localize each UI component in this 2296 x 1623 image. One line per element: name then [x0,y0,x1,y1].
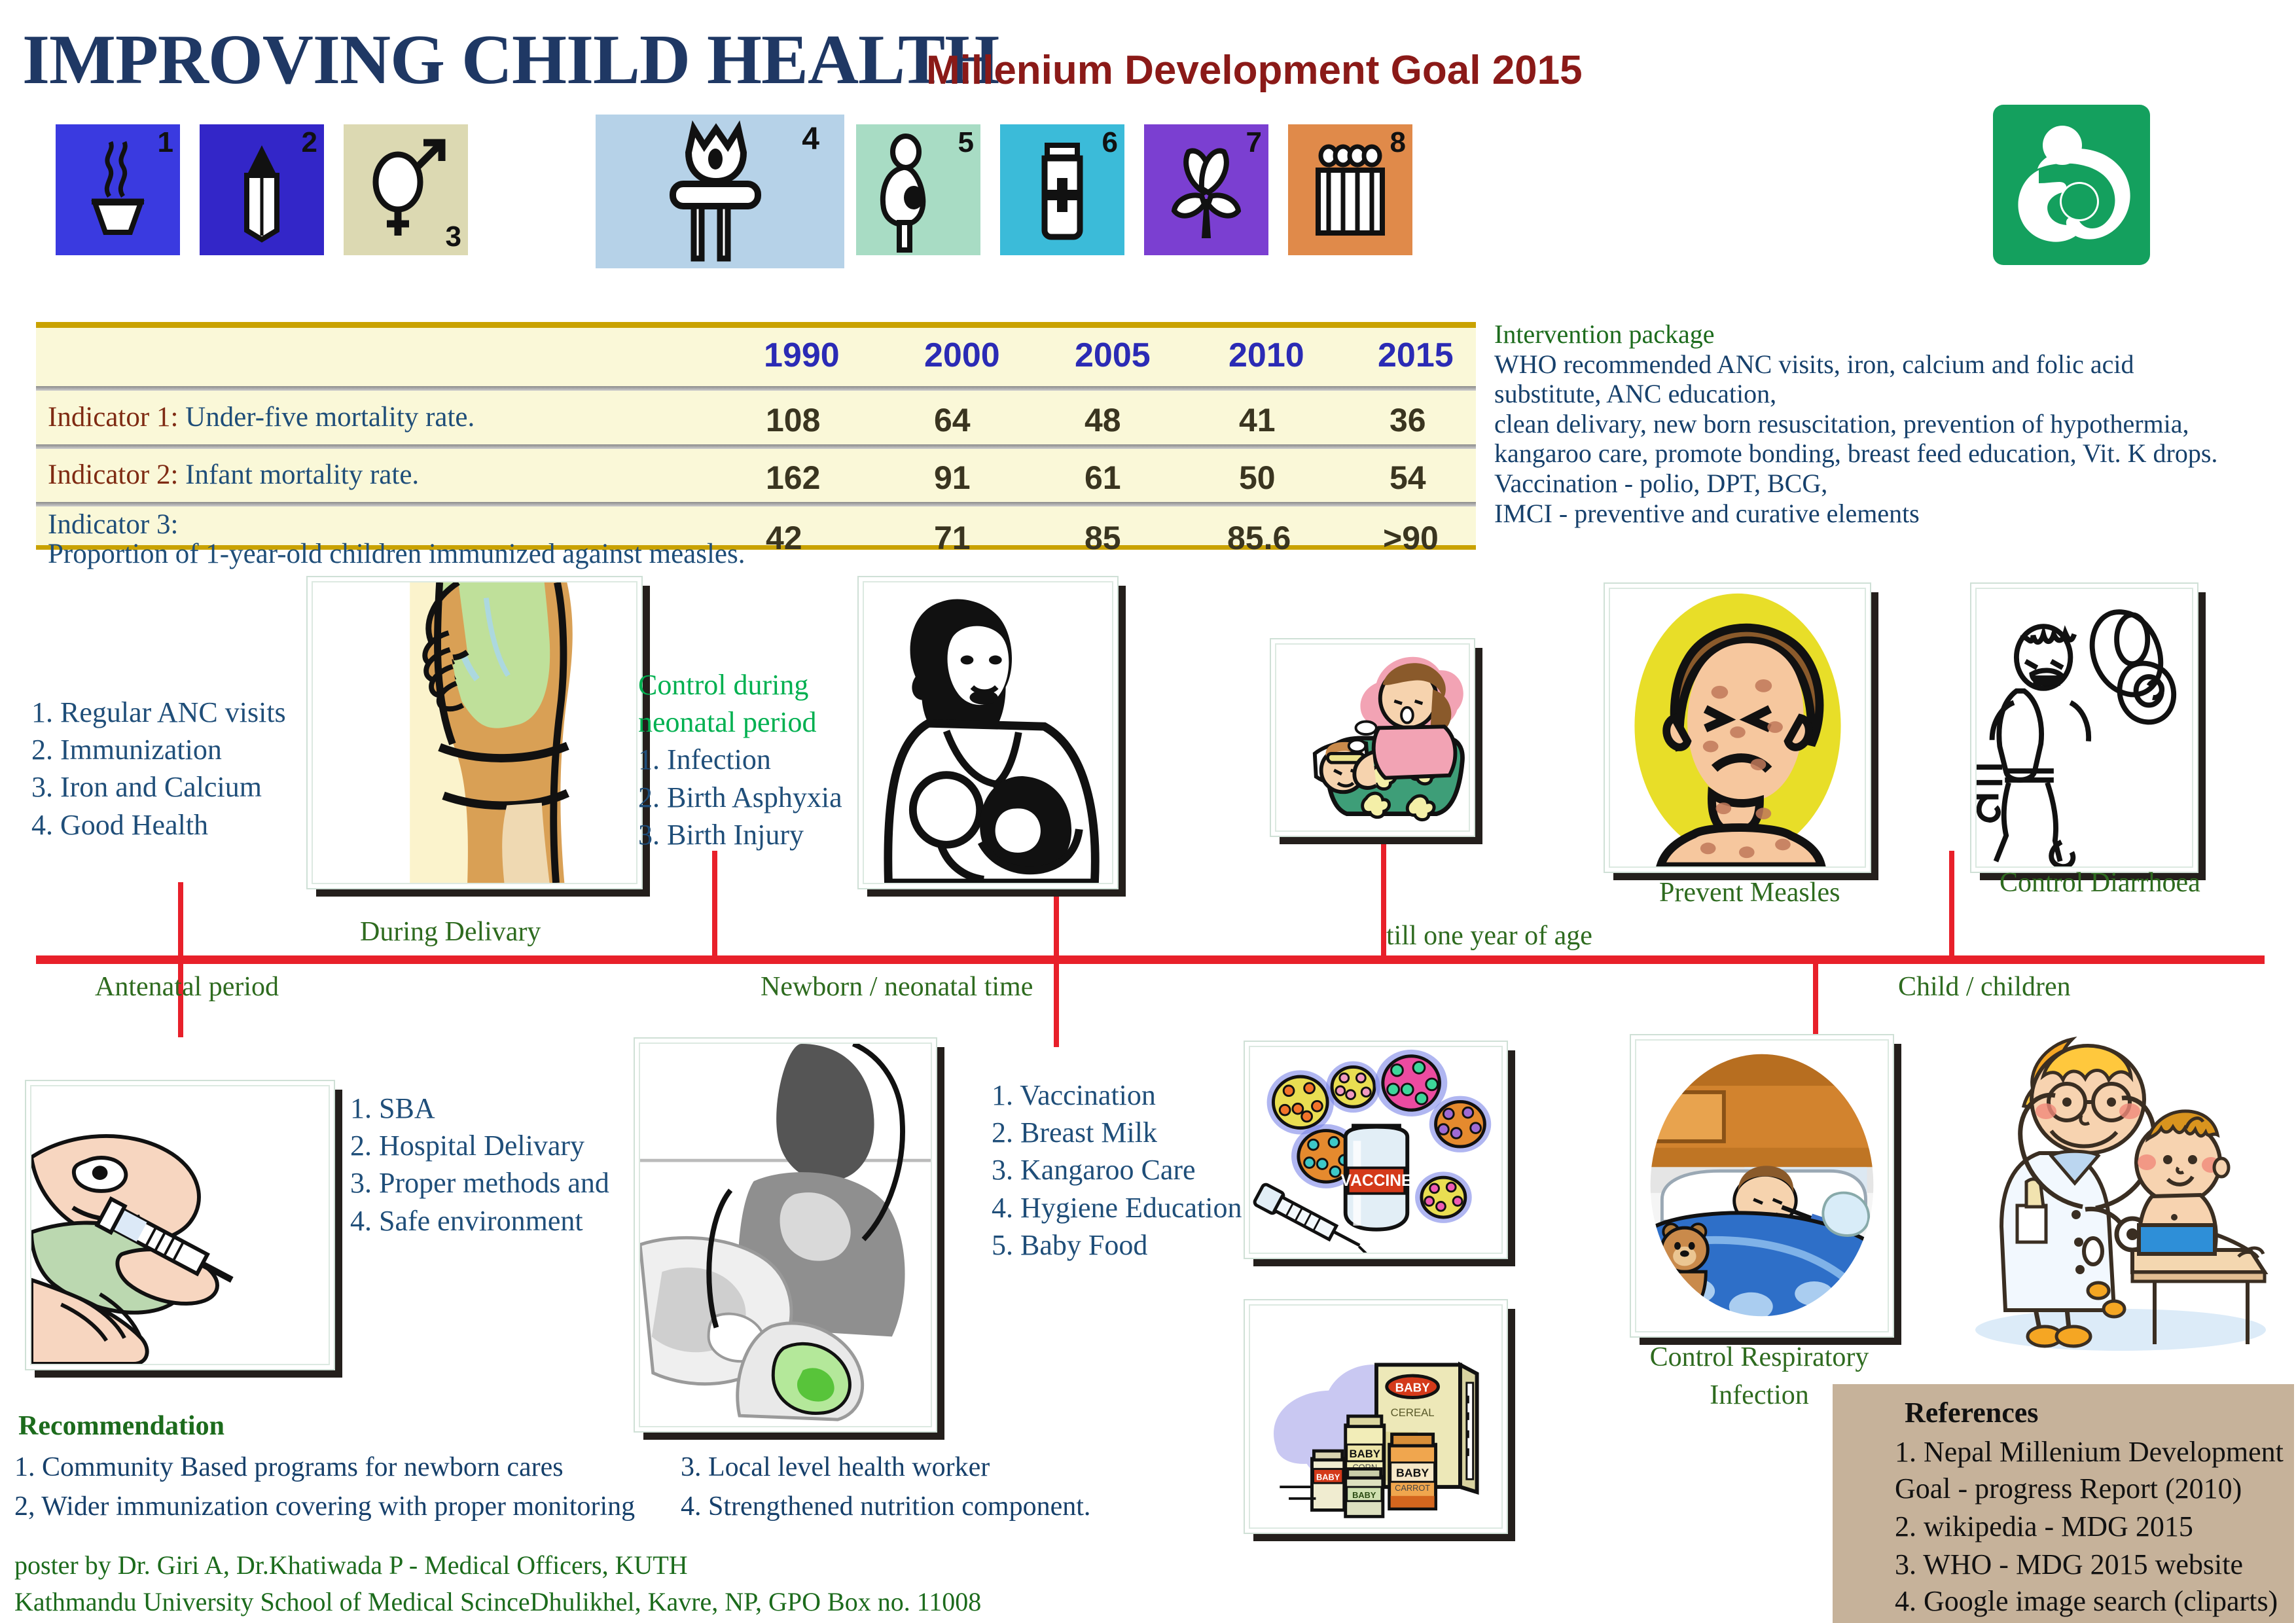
page-title: IMPROVING CHILD HEALTH [22,25,999,96]
table-cell: 108 [766,401,820,439]
credit-line-2: Kathmandu University School of Medical S… [14,1586,981,1617]
timeline-tick [712,851,717,959]
table-cell: 48 [1085,401,1121,439]
indicators-table: 1990 2000 2005 2010 2015 Indicator 1: Un… [36,322,1476,550]
table-col-header: 2015 [1378,336,1454,375]
svg-text:CARROT: CARROT [1395,1483,1430,1493]
mdg-icon-7: 7 [1144,124,1268,255]
table-divider [36,502,1476,507]
mdg-icon-8: 8 [1288,124,1412,255]
intervention-line: kangaroo care, promote bonding, breast f… [1494,438,2293,469]
photo-vaccine: VACCINE [1244,1041,1508,1259]
table-cell: 50 [1239,459,1276,497]
intervention-heading: Intervention package [1494,319,2293,349]
intervention-package-block: Intervention package WHO recommended ANC… [1494,319,2293,528]
photo-measles-child [1604,582,1871,873]
list-item: 3. Proper methods and [350,1164,609,1202]
table-col-header: 1990 [764,336,840,375]
mdg-number-label: 4 [802,121,819,157]
table-cell: >90 [1383,519,1439,557]
reference-item: 3. WHO - MDG 2015 website [1895,1548,2243,1581]
list-item: 3. Kangaroo Care [992,1151,1242,1188]
table-cell: 61 [1085,459,1121,497]
photo-delivery-procedure [634,1037,937,1433]
antenatal-list: 1. Regular ANC visits 2. Immunization 3.… [31,694,286,844]
reference-item: Goal - progress Report (2010) [1895,1472,2242,1505]
mdg-icon-2: 2 [200,124,324,255]
indicator-prefix: Indicator 3: [48,508,178,541]
reference-item: 1. Nepal Millenium Development [1895,1435,2284,1469]
timeline-label-child: Child / children [1898,971,2071,1003]
timeline-bar [36,955,2265,964]
label-control-respiratory-line1: Control Respiratory [1635,1342,1884,1373]
intervention-line: clean delivary, new born resuscitation, … [1494,409,2293,439]
list-item: 2. Birth Asphyxia [638,779,842,816]
timeline-tick [1381,844,1386,959]
neonatal-heading-line2: neonatal period [638,704,842,741]
svg-text:BABY: BABY [1316,1472,1340,1482]
timeline-tick [1054,962,1059,1047]
label-control-diarrhoea: Control Diarrhoea [2000,867,2200,899]
mdg-icon-6: 6 [1000,124,1124,255]
photo-diarrhoea [1970,582,2198,873]
mdg-icon-4-highlight: 4 [596,115,844,268]
table-cell: 85 [1085,519,1121,557]
mdg-icon-3: 3 [344,124,468,255]
photo-breastfeeding [857,576,1119,889]
timeline-label-till-one-year: till one year of age [1386,920,1592,952]
recommendation-heading: Recommendation [18,1410,224,1442]
table-cell: 85.6 [1227,519,1291,557]
list-item: 5. Baby Food [992,1226,1242,1264]
list-item: 3. Birth Injury [638,816,842,853]
indicator-prefix: Indicator 2: [48,459,178,490]
table-row: Indicator 1: Under-five mortality rate. [48,401,475,433]
photo-child-in-bed [1630,1034,1894,1338]
credit-line-1: poster by Dr. Giri A, Dr.Khatiwada P - M… [14,1550,688,1580]
table-divider [36,386,1476,391]
vaccine-bottle-label: VACCINE [1341,1172,1412,1190]
svg-text:BABY: BABY [1350,1448,1380,1460]
photo-baby-food: BABY CEREAL BABY CORN BABY CARROT [1244,1299,1508,1534]
svg-text:BABY: BABY [1395,1381,1431,1395]
intervention-line: Vaccination - polio, DPT, BCG, [1494,469,2293,499]
mdg-number-label: 7 [1246,128,1262,157]
list-item: 2. Immunization [31,731,286,768]
clipart-doctor-examining-child [1957,1034,2287,1355]
neonatal-heading-line1: Control during [638,666,842,704]
photo-sick-baby-care [1270,638,1475,837]
breastfeeding-logo [1993,105,2150,265]
table-cell: 91 [934,459,971,497]
indicator-label: Proportion of 1-year-old children immuni… [48,538,745,570]
delivery-list: 1. SBA 2. Hospital Delivary 3. Proper me… [350,1090,609,1240]
mdg-icon-1: 1 [56,124,180,255]
timeline-label-during-delivery: During Delivary [360,916,541,948]
photo-pregnant-belly [306,576,643,889]
label-prevent-measles: Prevent Measles [1659,877,1840,908]
svg-text:BABY: BABY [1396,1466,1429,1479]
list-item: 4. Safe environment [350,1202,609,1240]
list-item: 4. Hygiene Education [992,1189,1242,1226]
mdg-number-label: 1 [158,128,173,157]
table-cell: 71 [934,519,971,557]
mdg-number-label: 5 [958,128,974,157]
recommendation-item: 4. Strengthened nutrition component. [681,1491,1090,1522]
list-item: 1. Regular ANC visits [31,694,286,731]
list-item: 1. Vaccination [992,1077,1242,1114]
mdg-number-label: 3 [446,223,461,251]
photo-newborn-injection [25,1080,335,1370]
mdg-number-label: 6 [1102,128,1118,157]
timeline-tick [178,882,183,957]
table-divider [36,444,1476,449]
table-cell: 36 [1390,401,1426,439]
references-box: References 1. Nepal Millenium Developmen… [1833,1384,2294,1623]
table-cell: 41 [1239,401,1276,439]
timeline-tick [1054,897,1059,959]
svg-text:CEREAL: CEREAL [1391,1406,1435,1419]
recommendation-item: 3. Local level health worker [681,1452,990,1483]
neonatal-list: Control during neonatal period 1. Infect… [638,666,842,853]
list-item: 1. Infection [638,741,842,778]
mdg-icon-5: 5 [856,124,980,255]
reference-item: 4. Google image search (cliparts) [1895,1584,2278,1618]
timeline-tick [1949,851,1954,959]
indicator-prefix: Indicator 1: [48,402,178,433]
list-item: 4. Good Health [31,806,286,844]
svg-text:BABY: BABY [1352,1490,1376,1500]
list-item: 1. SBA [350,1090,609,1127]
list-item: 2. Breast Milk [992,1114,1242,1151]
intervention-line: IMCI - preventive and curative elements [1494,499,2293,529]
table-cell: 162 [766,459,820,497]
recommendation-item: 2, Wider immunization covering with prop… [14,1491,635,1522]
mdg-number-label: 2 [302,128,317,157]
page-subtitle: Millenium Development Goal 2015 [926,47,1583,94]
table-cell: 42 [766,519,802,557]
table-col-header: 2005 [1075,336,1151,375]
infant-care-list: 1. Vaccination 2. Breast Milk 3. Kangaro… [992,1077,1242,1264]
recommendation-item: 1. Community Based programs for newborn … [14,1452,564,1483]
table-col-header: 2000 [924,336,1000,375]
indicator-label: Infant mortality rate. [178,459,419,490]
table-col-header: 2010 [1229,336,1304,375]
list-item: 2. Hospital Delivary [350,1127,609,1164]
intervention-line: substitute, ANC education, [1494,379,2293,409]
indicator-label: Under-five mortality rate. [178,402,475,433]
mdg-number-label: 8 [1390,128,1406,157]
references-heading: References [1905,1396,2038,1429]
table-cell: 64 [934,401,971,439]
intervention-line: WHO recommended ANC visits, iron, calciu… [1494,349,2293,380]
list-item: 3. Iron and Calcium [31,768,286,806]
table-cell: 54 [1390,459,1426,497]
timeline-label-antenatal: Antenatal period [95,971,279,1003]
reference-item: 2. wikipedia - MDG 2015 [1895,1510,2193,1543]
table-row: Indicator 2: Infant mortality rate. [48,459,419,491]
timeline-label-newborn: Newborn / neonatal time [761,971,1033,1003]
